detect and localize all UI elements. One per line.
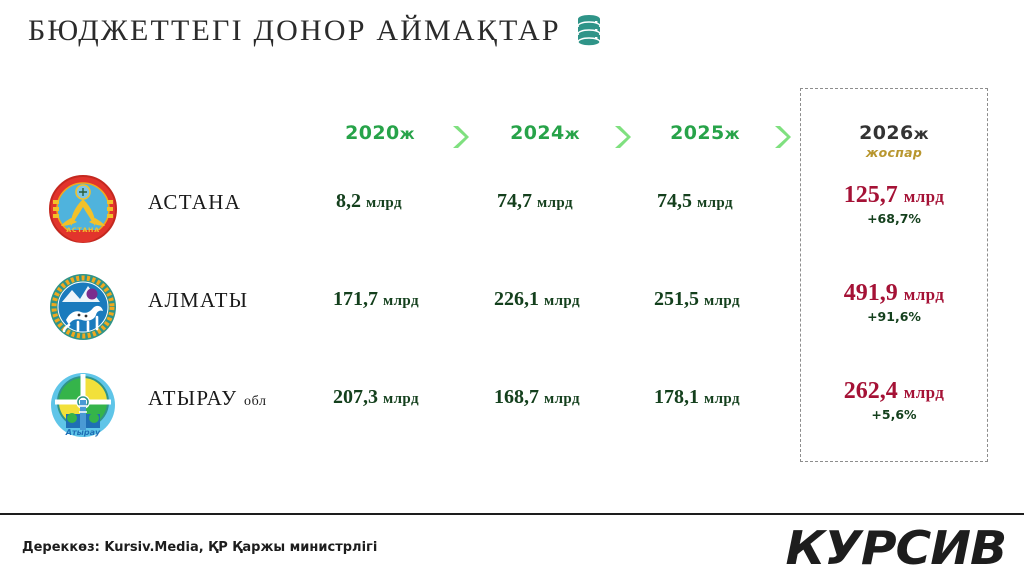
value-unit: млрд [704,293,740,309]
region-name: АТЫРАУ [148,386,237,410]
almaty-emblem [48,272,118,342]
value-delta-badge: +5,6% [800,407,988,422]
value-unit: млрд [704,391,740,407]
chevron-right-icon-3 [772,124,792,150]
value-delta-badge: +91,6% [800,309,988,324]
column-header-2020-suffix: ж [400,125,415,143]
column-header-2025[interactable]: 2025ж [645,122,765,144]
source-note: Дереккөз: Kursiv.Media, ҚР Қаржы министр… [22,540,377,555]
value-number: 74,5 [657,190,692,212]
region-label-atyrau: АТЫРАУ обл [148,386,267,411]
value-number: 226,1 [494,288,539,310]
column-header-2024[interactable]: 2024ж [485,122,605,144]
value-number: 171,7 [333,288,378,310]
page-title: БЮДЖЕТТЕГІ ДОНОР АЙМАҚТАР [28,14,561,48]
value-2026-atyrau: 262,4 млрд +5,6% [800,378,988,422]
value-2025-astana: 74,5 млрд [657,190,733,213]
database-icon [575,14,603,48]
value-plan-amount: 262,4 млрд [844,378,945,404]
value-delta-badge: +68,7% [800,211,988,226]
column-header-2025-suffix: ж [725,125,740,143]
footer-divider [0,513,1024,515]
value-2020-atyrau: 207,3 млрд [333,386,419,409]
value-unit: млрд [383,391,419,407]
region-label-astana: АСТАНА [148,190,241,215]
value-number: 491,9 [844,280,898,306]
chevron-right-icon-1 [450,124,470,150]
value-2024-atyrau: 168,7 млрд [494,386,580,409]
value-unit: млрд [904,187,945,206]
column-header-2026-note: жоспар [800,145,988,160]
value-number: 8,2 [336,190,361,212]
value-number: 251,5 [654,288,699,310]
value-unit: млрд [697,195,733,211]
table-row: АСТАНА АСТАНА 8,2 млрд 74,7 млрд 74,5 мл… [0,172,1024,268]
value-unit: млрд [383,293,419,309]
value-2024-almaty: 226,1 млрд [494,288,580,311]
table-row: АЛМАТЫ 171,7 млрд 226,1 млрд 251,5 млрд … [0,270,1024,366]
value-unit: млрд [904,285,945,304]
column-header-2026-suffix: ж [914,125,929,143]
value-2024-astana: 74,7 млрд [497,190,573,213]
region-name-suffix: обл [244,394,267,409]
column-header-2024-label: 2024 [510,122,564,144]
svg-text:АСТАНА: АСТАНА [66,226,99,234]
value-number: 74,7 [497,190,532,212]
value-unit: млрд [544,391,580,407]
svg-text:Атырау: Атырау [65,428,101,437]
value-plan-amount: 491,9 млрд [844,280,945,306]
value-unit: млрд [544,293,580,309]
value-number: 125,7 [844,182,898,208]
page-header: БЮДЖЕТТЕГІ ДОНОР АЙМАҚТАР [28,14,603,48]
column-header-2025-label: 2025 [670,122,724,144]
value-number: 168,7 [494,386,539,408]
value-2020-astana: 8,2 млрд [336,190,402,213]
value-unit: млрд [537,195,573,211]
column-header-2020[interactable]: 2020ж [320,122,440,144]
value-2020-almaty: 171,7 млрд [333,288,419,311]
column-header-2024-suffix: ж [565,125,580,143]
region-label-almaty: АЛМАТЫ [148,288,248,313]
value-2026-astana: 125,7 млрд +68,7% [800,182,988,226]
value-unit: млрд [366,195,402,211]
value-2025-almaty: 251,5 млрд [654,288,740,311]
brand-logo: КУРСИВ [785,521,1006,575]
value-2026-almaty: 491,9 млрд +91,6% [800,280,988,324]
value-2025-atyrau: 178,1 млрд [654,386,740,409]
atyrau-emblem: Атырау [48,370,118,440]
region-name: АСТАНА [148,190,241,214]
value-number: 178,1 [654,386,699,408]
region-name: АЛМАТЫ [148,288,248,312]
astana-emblem: АСТАНА [48,174,118,244]
year-header-row: 2020ж 2024ж 2025ж 2026ж жоспар [0,122,1024,166]
value-plan-amount: 125,7 млрд [844,182,945,208]
value-unit: млрд [904,383,945,402]
column-header-2026-label: 2026 [859,122,913,144]
column-header-2020-label: 2020 [345,122,399,144]
value-number: 207,3 [333,386,378,408]
value-number: 262,4 [844,378,898,404]
chevron-right-icon-2 [612,124,632,150]
table-row: Атырау АТЫРАУ обл 207,3 млрд 168,7 млрд … [0,368,1024,464]
column-header-2026-plan[interactable]: 2026ж жоспар [800,122,988,160]
